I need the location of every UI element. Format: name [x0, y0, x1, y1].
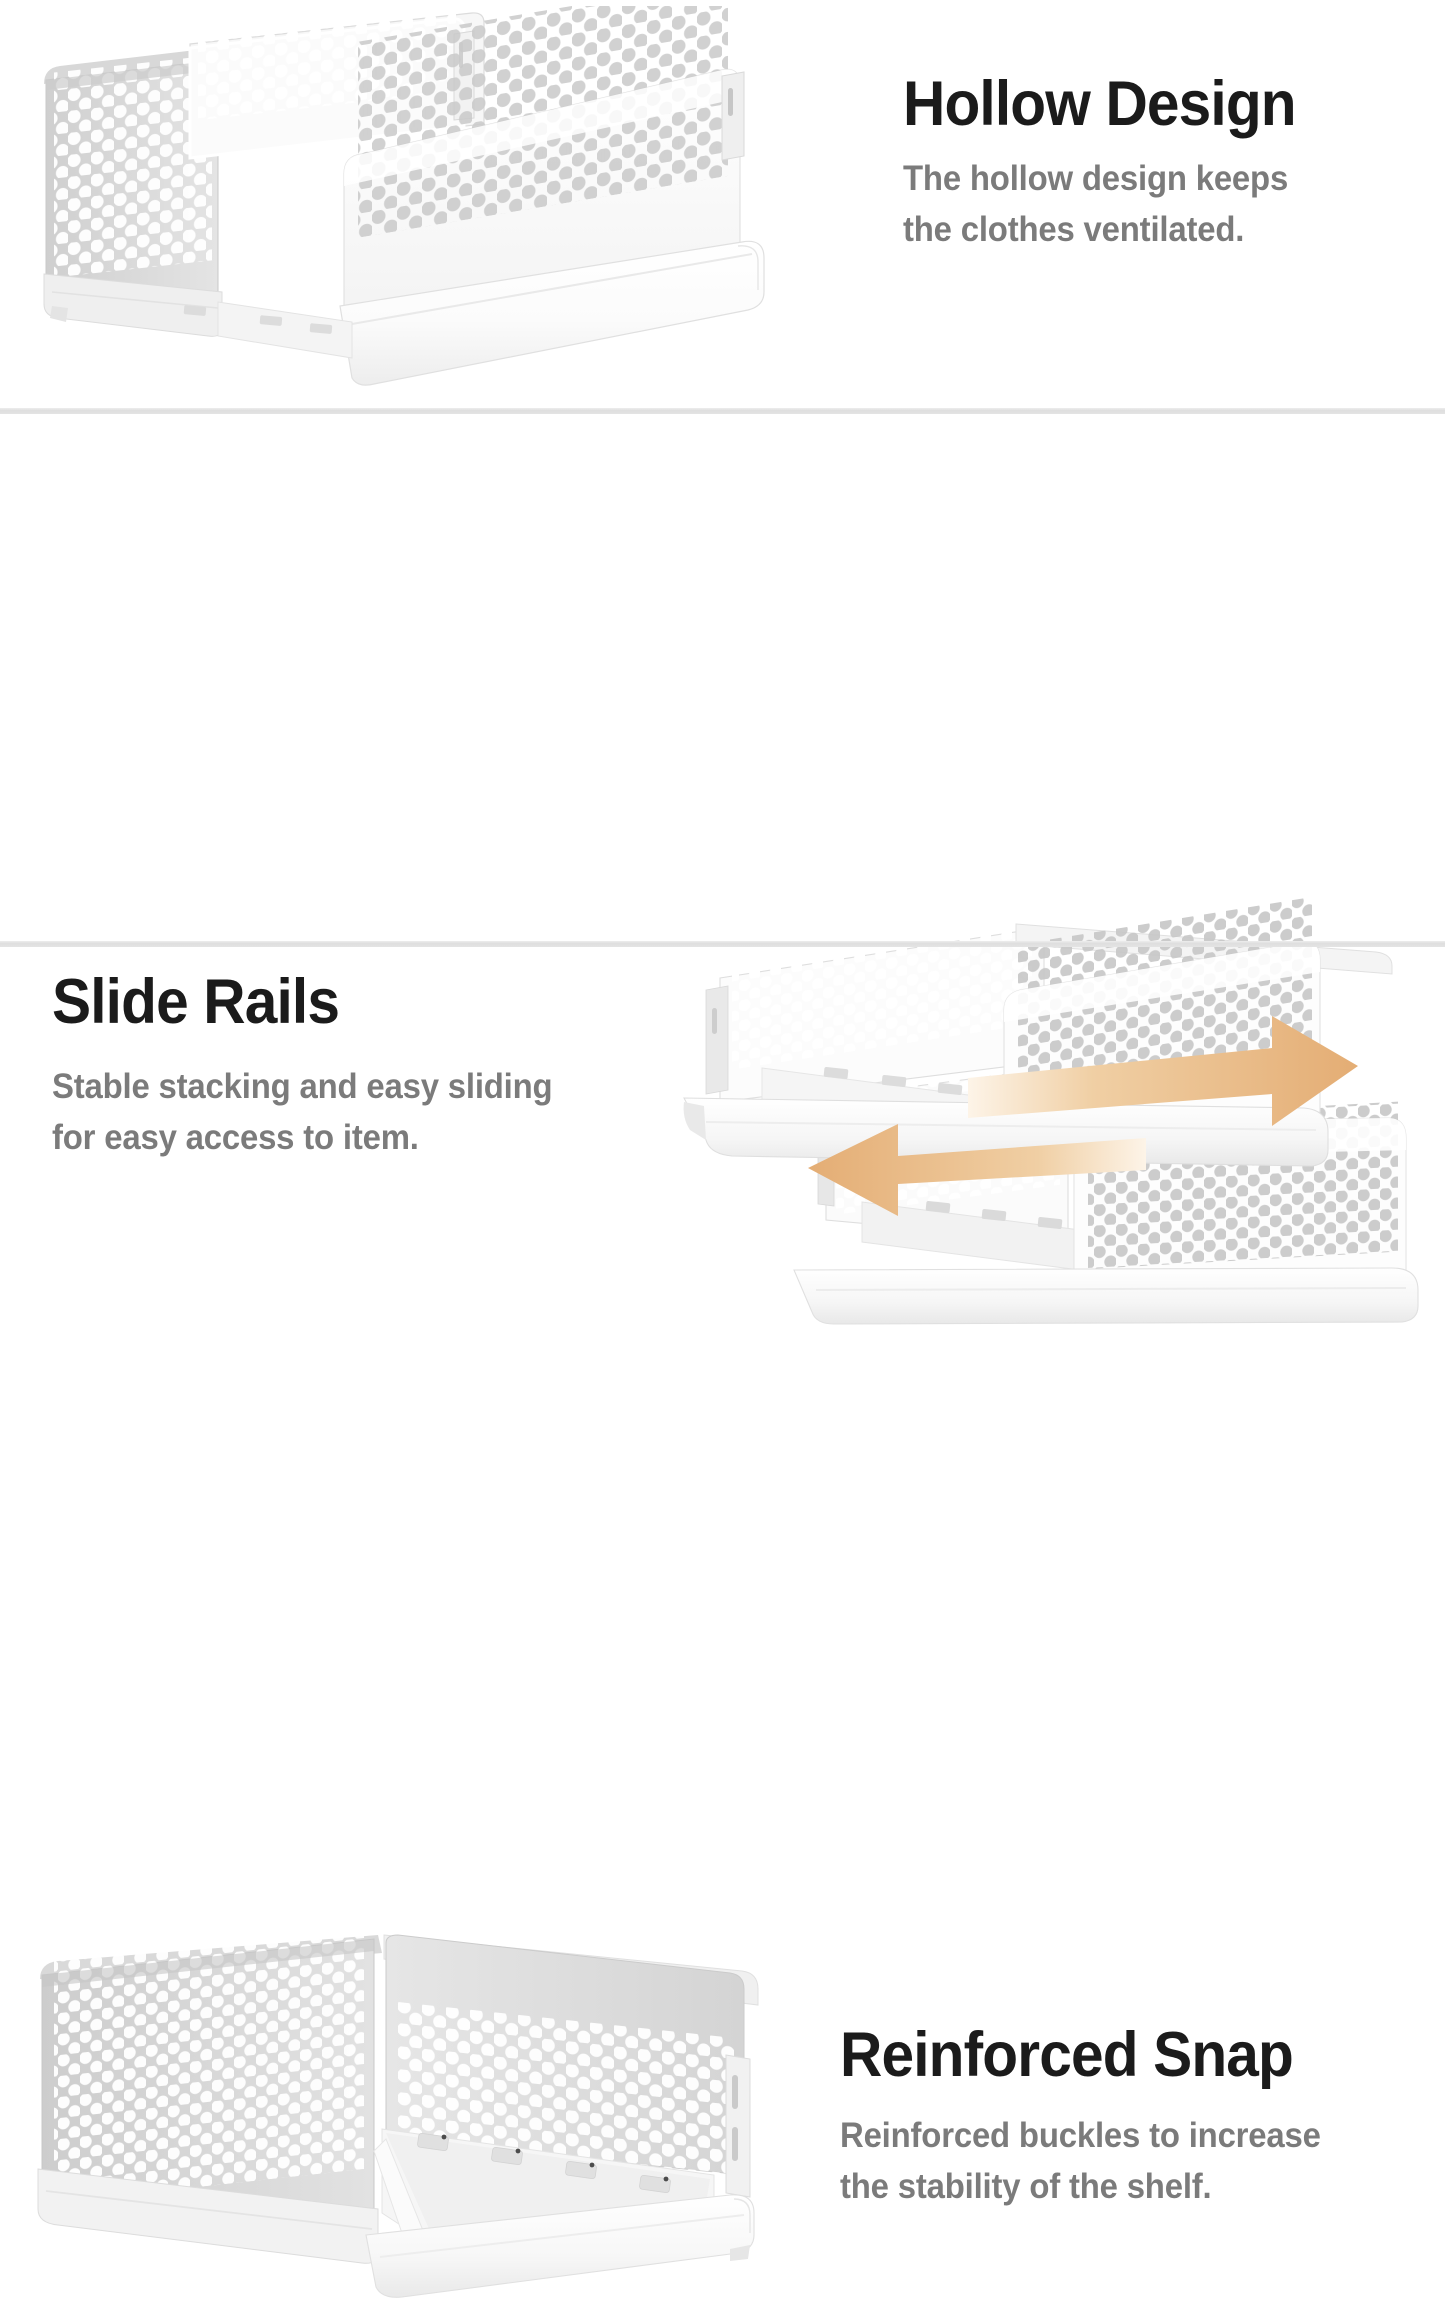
basket-left-panel — [42, 1927, 374, 2213]
feature-title-hollow-design: Hollow Design — [903, 72, 1387, 137]
product-infographic: Hollow Design The hollow design keeps th… — [0, 0, 1445, 1358]
feature-description-line: the stability of the shelf. — [840, 2167, 1211, 2206]
feature-panel-reinforced-snap: Reinforced Snap Reinforced buckles to in… — [0, 947, 1445, 1358]
feature-description-line: Reinforced buckles to increase — [840, 2116, 1321, 2155]
snap-hinge-right — [726, 2055, 750, 2197]
snap-tab-right — [722, 72, 744, 160]
feature-panel-slide-rails: Slide Rails Stable stacking and easy sli… — [0, 414, 1445, 941]
feature-description-line: The hollow design keeps — [903, 159, 1288, 198]
product-image-hollow-design — [22, 6, 782, 404]
product-image-reinforced-snap — [14, 1913, 786, 2301]
feature-title-reinforced-snap: Reinforced Snap — [840, 2023, 1398, 2088]
feature-description-reinforced-snap: Reinforced buckles to increase the stabi… — [840, 2110, 1404, 2212]
feature-text-reinforced-snap: Reinforced Snap Reinforced buckles to in… — [840, 2023, 1440, 2212]
feature-description-hollow-design: The hollow design keeps the clothes vent… — [903, 153, 1392, 255]
feature-panel-hollow-design: Hollow Design The hollow design keeps th… — [0, 0, 1445, 408]
feature-text-hollow-design: Hollow Design The hollow design keeps th… — [903, 72, 1423, 255]
feature-description-line: the clothes ventilated. — [903, 210, 1244, 249]
